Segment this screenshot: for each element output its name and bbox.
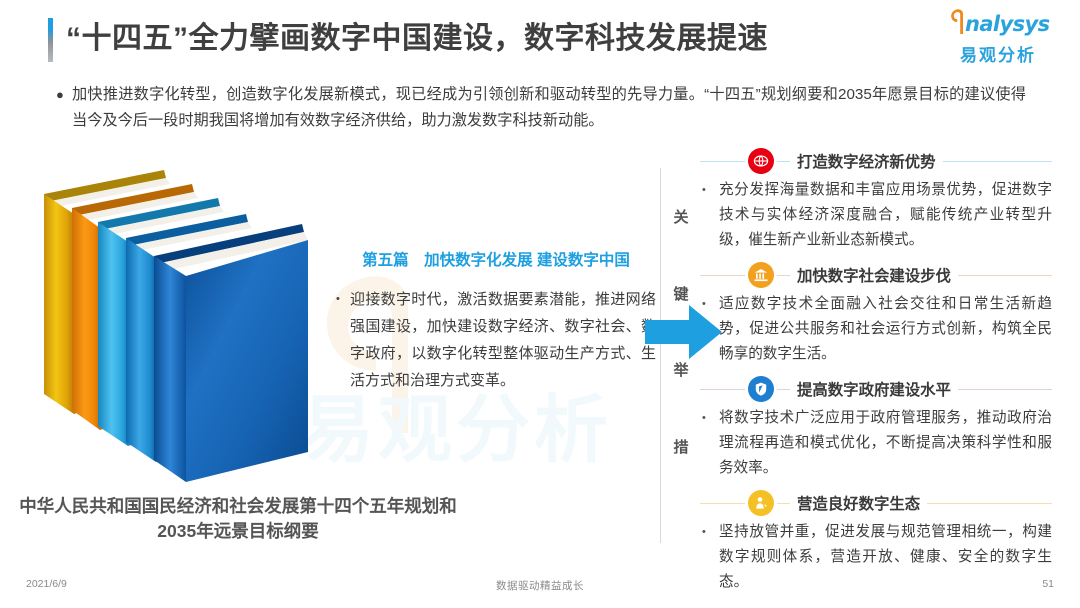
books-illustration bbox=[34, 162, 334, 492]
measure-rule-right-1 bbox=[943, 161, 1052, 162]
analysys-logo: nalysys 易观分析 bbox=[938, 10, 1058, 66]
measure-block-1: 打造数字经济新优势 • 充分发挥海量数据和丰富应用场景优势，促进数字技术与实体经… bbox=[700, 146, 1052, 253]
measure-bullet-3: • bbox=[702, 406, 719, 431]
measure-rule-mid-1 bbox=[776, 161, 790, 162]
measure-body-4: • 坚持放管并重，促进发展与规范管理相统一，构建数字规则体系，营造开放、健康、安… bbox=[700, 520, 1052, 595]
measure-rule-mid-3 bbox=[776, 389, 790, 390]
vertical-label-char-4: 措 bbox=[673, 438, 688, 458]
page-title: “十四五”全力擘画数字中国建设，数字科技发展提速 bbox=[66, 16, 768, 62]
measure-title-1: 打造数字经济新优势 bbox=[790, 150, 943, 172]
books-caption: 中华人民共和国国民经济和社会发展第十四个五年规划和2035年远景目标纲要 bbox=[18, 494, 458, 544]
measure-rule-left-3 bbox=[700, 389, 746, 390]
center-heading: 第五篇 加快数字化发展 建设数字中国 bbox=[336, 250, 656, 272]
slide-header: “十四五”全力擘画数字中国建设，数字科技发展提速 bbox=[0, 0, 1080, 76]
measure-text-3: 将数字技术广泛应用于政府管理服务，推动政府治理流程再造和模式优化，不断提高决策科… bbox=[719, 406, 1052, 481]
logo-cn-name: 易观分析 bbox=[938, 41, 1058, 66]
measure-title-2: 加快数字社会建设步伐 bbox=[790, 264, 958, 286]
measure-rule-left-1 bbox=[700, 161, 746, 162]
measure-header-2: 加快数字社会建设步伐 bbox=[700, 260, 1052, 290]
measure-rule-mid-4 bbox=[776, 503, 790, 504]
measure-rule-left-2 bbox=[700, 275, 746, 276]
measure-block-3: 提高数字政府建设水平 • 将数字技术广泛应用于政府管理服务，推动政府治理流程再造… bbox=[700, 374, 1052, 481]
right-arrow-icon bbox=[645, 303, 723, 366]
measure-body-3: • 将数字技术广泛应用于政府管理服务，推动政府治理流程再造和模式优化，不断提高决… bbox=[700, 406, 1052, 481]
measure-header-1: 打造数字经济新优势 bbox=[700, 146, 1052, 176]
logo-text: nalysys bbox=[965, 12, 1050, 36]
lead-paragraph-text: 加快推进数字化转型，创造数字化发展新模式，现已经成为引领创新和驱动转型的先导力量… bbox=[72, 82, 1026, 134]
measure-block-2: 加快数字社会建设步伐 • 适应数字技术全面融入社会交往和日常生活新趋势，促进公共… bbox=[700, 260, 1052, 367]
key-measures-panel: 打造数字经济新优势 • 充分发挥海量数据和丰富应用场景优势，促进数字技术与实体经… bbox=[700, 146, 1052, 602]
measure-bullet-1: • bbox=[702, 178, 719, 203]
measure-rule-right-2 bbox=[958, 275, 1052, 276]
shield-icon bbox=[748, 376, 774, 402]
measure-rule-left-4 bbox=[700, 503, 746, 504]
measure-rule-mid-2 bbox=[776, 275, 790, 276]
center-bullet-icon: • bbox=[336, 286, 350, 313]
center-body: • 迎接数字时代，激活数据要素潜能，推进网络强国建设，加快建设数字经济、数字社会… bbox=[336, 286, 656, 394]
lead-paragraph: ● 加快推进数字化转型，创造数字化发展新模式，现已经成为引领创新和驱动转型的先导… bbox=[56, 82, 1026, 134]
measure-bullet-4: • bbox=[702, 520, 719, 545]
measure-rule-right-4 bbox=[927, 503, 1052, 504]
logo-wordmark: nalysys bbox=[938, 10, 1058, 40]
digital-economy-icon bbox=[748, 148, 774, 174]
vertical-label-char-2: 键 bbox=[673, 285, 688, 305]
measure-text-4: 坚持放管并重，促进发展与规范管理相统一，构建数字规则体系，营造开放、健康、安全的… bbox=[719, 520, 1052, 595]
measure-text-1: 充分发挥海量数据和丰富应用场景优势，促进数字技术与实体经济深度融合，赋能传统产业… bbox=[719, 178, 1052, 253]
measure-text-2: 适应数字技术全面融入社会交往和日常生活新趋势，促进公共服务和社会运行方式创新，构… bbox=[719, 292, 1052, 367]
measure-block-4: 营造良好数字生态 • 坚持放管并重，促进发展与规范管理相统一，构建数字规则体系，… bbox=[700, 488, 1052, 595]
lead-bullet-icon: ● bbox=[56, 82, 72, 108]
measure-body-1: • 充分发挥海量数据和丰富应用场景优势，促进数字技术与实体经济深度融合，赋能传统… bbox=[700, 178, 1052, 253]
measure-title-4: 营造良好数字生态 bbox=[790, 492, 927, 514]
measure-rule-right-3 bbox=[958, 389, 1052, 390]
measure-title-3: 提高数字政府建设水平 bbox=[790, 378, 958, 400]
center-body-text: 迎接数字时代，激活数据要素潜能，推进网络强国建设，加快建设数字经济、数字社会、数… bbox=[350, 286, 656, 394]
person-ecology-icon bbox=[748, 490, 774, 516]
vertical-label-char-1: 关 bbox=[673, 208, 688, 228]
measure-body-2: • 适应数字技术全面融入社会交往和日常生活新趋势，促进公共服务和社会运行方式创新… bbox=[700, 292, 1052, 367]
measure-header-3: 提高数字政府建设水平 bbox=[700, 374, 1052, 404]
measure-header-4: 营造良好数字生态 bbox=[700, 488, 1052, 518]
title-accent-bar bbox=[48, 18, 53, 62]
center-column: 第五篇 加快数字化发展 建设数字中国 • 迎接数字时代，激活数据要素潜能，推进网… bbox=[336, 250, 656, 394]
bank-building-icon bbox=[748, 262, 774, 288]
